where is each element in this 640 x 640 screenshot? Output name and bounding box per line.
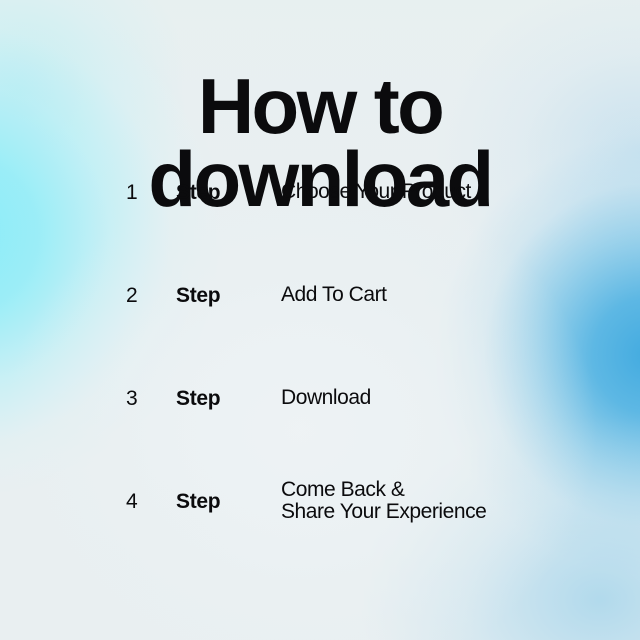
list-item: 1 Step Choose Your Product (0, 182, 640, 285)
step-label: Step (176, 491, 220, 512)
step-label: Step (176, 388, 220, 409)
step-description: Choose Your Product (281, 181, 471, 203)
step-description: Download (281, 387, 371, 409)
list-item: 4 Step Come Back & Share Your Experience (0, 491, 640, 594)
step-number: 3 (126, 388, 166, 409)
step-label: Step (176, 285, 220, 306)
list-item: 3 Step Download (0, 388, 640, 491)
list-item: 2 Step Add To Cart (0, 285, 640, 388)
step-description: Come Back & Share Your Experience (281, 479, 486, 524)
step-number: 1 (126, 182, 166, 203)
step-label: Step (176, 182, 220, 203)
step-number: 2 (126, 285, 166, 306)
step-number: 4 (126, 491, 166, 512)
poster-content: How to download 1 Step Choose Your Produ… (0, 0, 640, 640)
step-description: Add To Cart (281, 284, 387, 306)
steps-list: 1 Step Choose Your Product 2 Step Add To… (0, 182, 640, 594)
poster-canvas: How to download 1 Step Choose Your Produ… (0, 0, 640, 640)
